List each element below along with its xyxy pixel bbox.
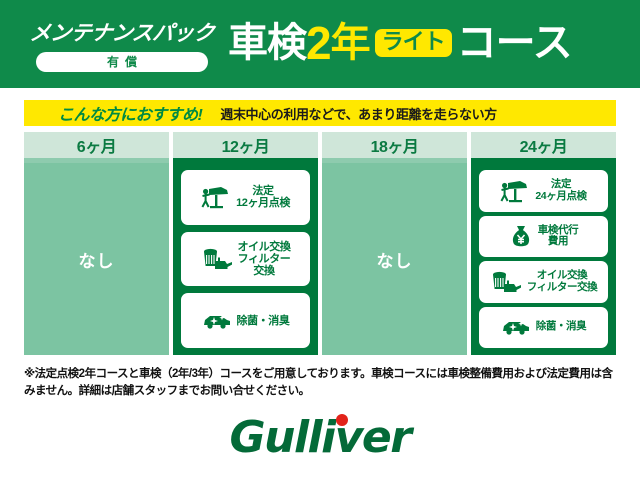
- oil-filter-change-icon: [201, 246, 233, 272]
- service-item: 法定 12ヶ月点検: [181, 170, 310, 225]
- course-unit: 年: [331, 23, 370, 63]
- course-suffix: コース: [457, 23, 572, 63]
- header-left-group: メンテナンスパック 有償: [0, 17, 228, 72]
- service-item: オイル交換 フィルター交換: [479, 261, 608, 303]
- service-item-label: オイル交換 フィルター交換: [527, 270, 598, 294]
- car-sanitize-icon: [202, 312, 232, 330]
- brand-logo-label: Gulliver: [230, 412, 411, 463]
- column-empty: なし: [24, 163, 169, 355]
- recommendation-heading: こんな方におすすめ!: [58, 101, 202, 125]
- service-item-label: 除菌・消臭: [237, 315, 290, 327]
- course-title-group: 車検 2 年 ライト コース: [228, 20, 640, 68]
- light-badge: ライト: [375, 29, 452, 57]
- service-item: 除菌・消臭: [181, 293, 310, 348]
- table-column: 24ヶ月法定 24ヶ月点検車検代行 費用オイル交換 フィルター交換除菌・消臭: [471, 132, 616, 355]
- service-item-label: オイル交換 フィルター 交換: [238, 241, 291, 278]
- course-number: 2: [306, 20, 331, 66]
- maintenance-pack-banner: メンテナンスパック 有償 車検 2 年 ライト コース こんな方におすすめ! 週…: [0, 0, 640, 480]
- service-schedule-table: 6ヶ月なし12ヶ月法定 12ヶ月点検オイル交換 フィルター 交換除菌・消臭18ヶ…: [24, 132, 616, 355]
- service-item-label: 車検代行 費用: [538, 225, 578, 249]
- recommendation-description: 週末中心の利用などで、あまり距離を走らない方: [220, 104, 496, 123]
- footnote-text: ※法定点検2年コースと車検（2年/3年）コースをご用意しております。車検コースに…: [24, 366, 620, 399]
- paid-badge: 有償: [36, 52, 208, 72]
- money-bag-yen-icon: [509, 224, 533, 248]
- car-lift-inspection-icon: [201, 184, 231, 210]
- service-item-label: 除菌・消臭: [536, 321, 587, 333]
- brand-logo-text: Gulliver: [230, 412, 411, 463]
- column-services: 法定 24ヶ月点検車検代行 費用オイル交換 フィルター交換除菌・消臭: [471, 163, 616, 355]
- column-header: 6ヶ月: [24, 132, 169, 158]
- column-header: 24ヶ月: [471, 132, 616, 158]
- column-empty: なし: [322, 163, 467, 355]
- car-sanitize-icon: [501, 318, 531, 336]
- service-item-label: 法定 12ヶ月点検: [236, 185, 290, 210]
- service-item: オイル交換 フィルター 交換: [181, 232, 310, 287]
- service-item: 除菌・消臭: [479, 307, 608, 349]
- pack-title: メンテナンスパック: [28, 17, 215, 47]
- table-column: 18ヶ月なし: [322, 132, 467, 355]
- logo-dot-icon: [336, 414, 348, 426]
- no-service-label: なし: [79, 247, 115, 272]
- service-item-label: 法定 24ヶ月点検: [535, 179, 586, 203]
- service-item: 車検代行 費用: [479, 216, 608, 258]
- service-item: 法定 24ヶ月点検: [479, 170, 608, 212]
- no-service-label: なし: [377, 247, 413, 272]
- header-band: メンテナンスパック 有償 車検 2 年 ライト コース: [0, 0, 640, 88]
- column-header: 18ヶ月: [322, 132, 467, 158]
- column-header: 12ヶ月: [173, 132, 318, 158]
- column-services: 法定 12ヶ月点検オイル交換 フィルター 交換除菌・消臭: [173, 163, 318, 355]
- course-prefix: 車検: [228, 23, 306, 63]
- table-column: 12ヶ月法定 12ヶ月点検オイル交換 フィルター 交換除菌・消臭: [173, 132, 318, 355]
- table-column: 6ヶ月なし: [24, 132, 169, 355]
- oil-filter-change-icon: [490, 269, 522, 295]
- brand-logo: Gulliver: [0, 412, 640, 463]
- car-lift-inspection-icon: [500, 178, 530, 204]
- recommendation-bar: こんな方におすすめ! 週末中心の利用などで、あまり距離を走らない方: [24, 100, 616, 126]
